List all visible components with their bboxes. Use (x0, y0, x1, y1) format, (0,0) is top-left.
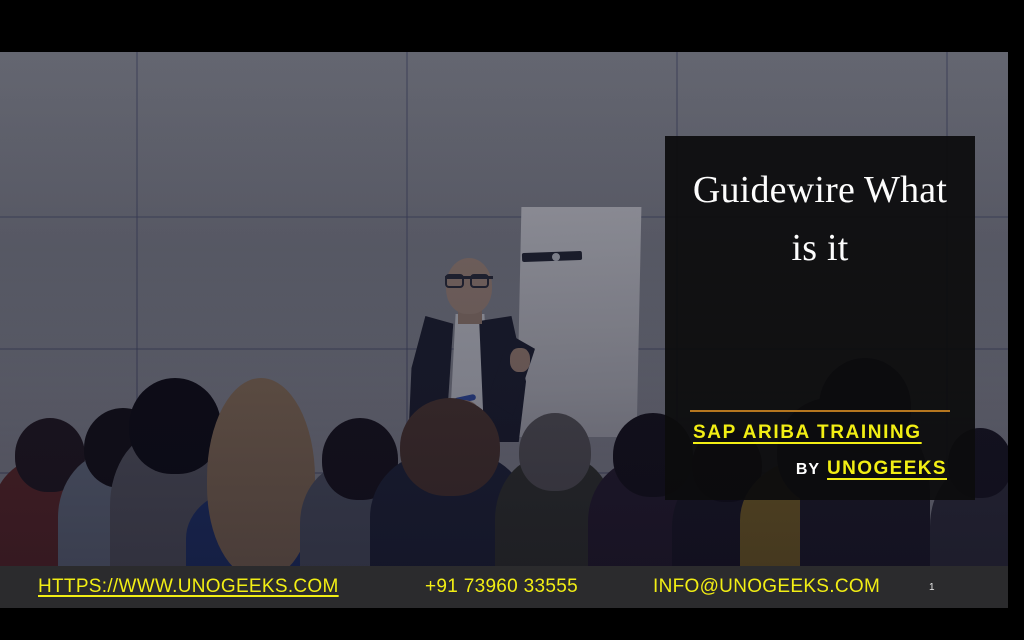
byline: BYUNOGEEKS (796, 458, 947, 480)
website-link[interactable]: HTTPS://WWW.UNOGEEKS.COM (38, 576, 339, 598)
page-number: 1 (929, 582, 935, 593)
panel-divider (690, 410, 950, 412)
title-line-1: Guidewire What (693, 169, 947, 211)
brand-name: UNOGEEKS (827, 458, 947, 479)
slide-canvas: Guidewire What is it SAP ARIBA TRAINING … (0, 0, 1024, 640)
title-panel: Guidewire What is it SAP ARIBA TRAINING … (665, 136, 975, 500)
phone-number: +91 73960 33555 (425, 576, 578, 598)
course-label: SAP ARIBA TRAINING (693, 422, 922, 444)
email-address[interactable]: INFO@UNOGEEKS.COM (653, 576, 880, 598)
page-title: Guidewire What is it (665, 162, 975, 278)
byline-prefix: BY (796, 461, 820, 478)
title-line-2: is it (792, 227, 849, 269)
footer-bar: HTTPS://WWW.UNOGEEKS.COM +91 73960 33555… (0, 566, 1008, 608)
